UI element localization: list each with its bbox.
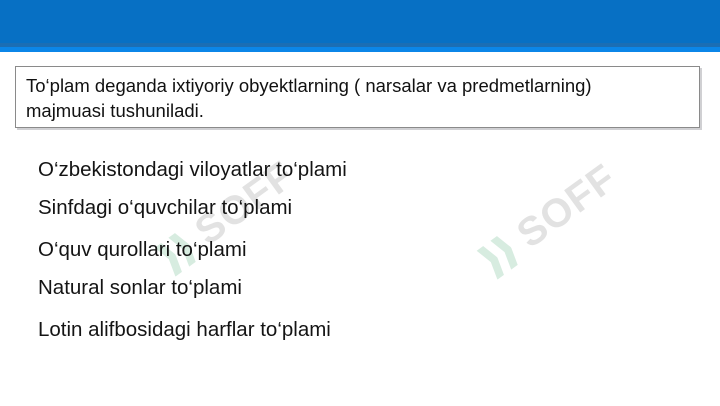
title-banner	[0, 0, 720, 52]
list-item: O‘quv qurollari to‘plami	[38, 238, 247, 262]
js-chevron-logo-icon	[472, 225, 530, 284]
list-item: O‘zbekistondagi viloyatlar to‘plami	[38, 158, 347, 182]
list-item: Natural sonlar to‘plami	[38, 276, 242, 300]
watermark-text: SOFF	[509, 156, 625, 257]
presentation-slide: SOFF SOFF SOFF SOFF To‘plamlar. To‘plam …	[0, 0, 720, 406]
definition-box: To‘plam deganda ixtiyoriy obyektlarning …	[15, 66, 700, 128]
definition-text: To‘plam deganda ixtiyoriy obyektlarning …	[26, 73, 666, 123]
watermark: SOFF	[472, 156, 625, 284]
banner-accent-stripe	[0, 47, 720, 52]
list-item: Sinfdagi o‘quvchilar to‘plami	[38, 196, 292, 220]
list-item: Lotin alifbosidagi harflar to‘plami	[38, 318, 331, 342]
